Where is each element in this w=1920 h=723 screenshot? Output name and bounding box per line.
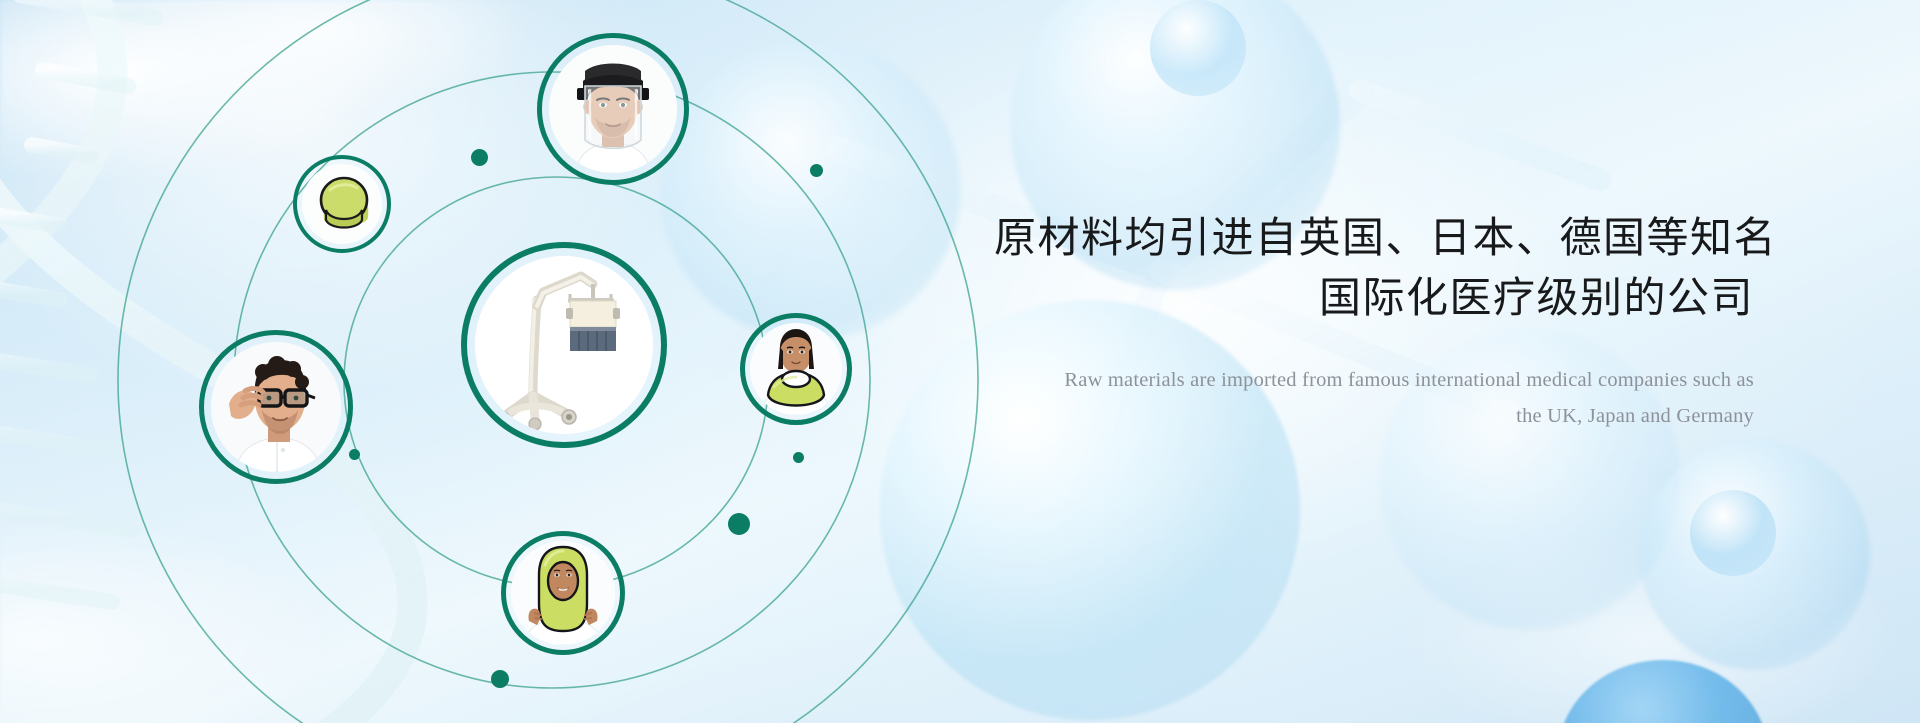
headline: 原材料均引进自英国、日本、德国等知名 国际化医疗级别的公司: [994, 208, 1754, 328]
banner-copy: 原材料均引进自英国、日本、德国等知名 国际化医疗级别的公司 Raw materi…: [994, 208, 1754, 434]
subheadline-line-2: the UK, Japan and Germany: [994, 398, 1754, 434]
subheadline: Raw materials are imported from famous i…: [994, 362, 1754, 434]
subheadline-line-1: Raw materials are imported from famous i…: [1064, 369, 1754, 391]
molecule-sphere-small-1: [1690, 490, 1776, 576]
headline-line-1: 原材料均引进自英国、日本、德国等知名: [994, 214, 1777, 261]
accent-dot-1: [471, 149, 488, 166]
accent-dot-5: [728, 513, 750, 535]
node-face-shield-man[interactable]: [549, 45, 677, 173]
node-protective-cap[interactable]: [302, 164, 382, 244]
banner-stage: 原材料均引进自英国、日本、德国等知名 国际化医疗级别的公司 Raw materi…: [0, 0, 1920, 723]
node-thyroid-collar-woman[interactable]: [750, 323, 842, 415]
node-protective-hood-woman[interactable]: [511, 541, 615, 645]
accent-dot-2: [810, 164, 823, 177]
accent-dot-6: [491, 670, 509, 688]
accent-dot-4: [793, 452, 804, 463]
node-mobile-xray-shield[interactable]: [475, 256, 653, 434]
molecule-sphere-small-2: [1150, 0, 1246, 96]
headline-line-2: 国际化医疗级别的公司: [994, 268, 1754, 328]
accent-dot-3: [349, 449, 360, 460]
node-lead-glasses-man[interactable]: [211, 342, 341, 472]
